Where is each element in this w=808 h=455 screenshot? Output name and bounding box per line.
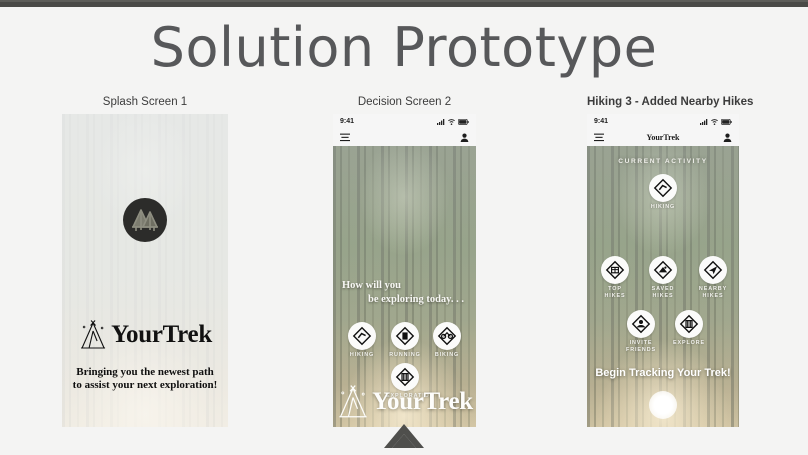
activity-option-running[interactable]: RUNNING — [387, 322, 423, 359]
brand-name-text: YourTrek — [372, 388, 473, 416]
phone-screen-hiking: 9:41 — [587, 114, 739, 427]
cellular-signal-icon — [700, 119, 708, 125]
wifi-icon — [448, 119, 455, 125]
diamond-hiking-icon[interactable] — [649, 174, 677, 202]
option-nearby-hikes-label: NEARBY HIKES — [693, 286, 733, 299]
diamond-running-icon[interactable] — [391, 322, 419, 350]
profile-icon[interactable] — [460, 129, 469, 147]
phone-screen-decision: 9:41 — [333, 114, 476, 427]
hiking-screen-body: CURRENT ACTIVITY HIKING — [587, 146, 739, 427]
activity-option-biking-label: BIKING — [430, 352, 464, 359]
cellular-signal-icon — [437, 119, 445, 125]
home-indicator-button[interactable] — [649, 391, 677, 419]
brand-wordmark: YourTrek — [78, 319, 212, 351]
hamburger-menu-icon[interactable] — [340, 129, 350, 147]
chevron-up-icon[interactable] — [382, 420, 426, 455]
option-explore-label: EXPLORE — [669, 340, 709, 347]
slide-top-bar — [0, 0, 808, 7]
option-invite-friends-label: INVITE FRIENDS — [621, 340, 661, 353]
begin-tracking-cta: Begin Tracking Your Trek! — [587, 367, 739, 379]
battery-icon — [458, 119, 469, 125]
activity-option-hiking-label: HIKING — [345, 352, 379, 359]
column-label-splash: Splash Screen 1 — [62, 96, 228, 108]
forest-circle-logo — [123, 198, 167, 242]
option-top-hikes[interactable]: TOP HIKES — [597, 256, 633, 299]
status-bar: 9:41 — [587, 114, 739, 129]
activity-option-hiking[interactable]: HIKING — [345, 322, 379, 359]
decision-brand-wordmark: YourTrek — [333, 383, 476, 421]
column-label-hiking: Hiking 3 - Added Nearby Hikes — [587, 96, 753, 108]
diamond-hiking-icon[interactable] — [348, 322, 376, 350]
splash-tagline-line-1: Bringing you the newest path — [70, 366, 220, 379]
current-activity-hiking[interactable]: HIKING — [646, 174, 680, 211]
decision-prompt-line-1: How will you — [342, 280, 401, 291]
splash-tagline-line-2: to assist your next exploration! — [70, 379, 220, 392]
option-invite-friends[interactable]: INVITE FRIENDS — [621, 310, 661, 353]
forest-circle-logo-glyph — [128, 203, 162, 237]
diamond-saved-hikes-icon[interactable] — [649, 256, 677, 284]
wifi-icon — [711, 119, 718, 125]
battery-icon — [721, 119, 732, 125]
decision-screen-body: How will you be exploring today. . . HIK… — [333, 146, 476, 427]
decision-prompt-line-2: be exploring today. . . — [342, 293, 470, 307]
diamond-top-hikes-icon[interactable] — [601, 256, 629, 284]
nav-bar — [333, 129, 476, 146]
teepee-icon — [78, 319, 108, 351]
status-bar-icons — [700, 119, 732, 125]
section-header-current-activity: CURRENT ACTIVITY — [587, 158, 739, 165]
splash-tagline: Bringing you the newest path to assist y… — [70, 366, 220, 392]
status-bar: 9:41 — [333, 114, 476, 129]
option-top-hikes-label: TOP HIKES — [597, 286, 633, 299]
prototype-column-splash: Splash Screen 1 — [62, 96, 228, 427]
diamond-navigation-arrow-icon[interactable] — [699, 256, 727, 284]
slide-top-bar-highlight — [0, 0, 808, 2]
diamond-biking-icon[interactable] — [433, 322, 461, 350]
activity-option-running-label: RUNNING — [387, 352, 423, 359]
activity-option-biking[interactable]: BIKING — [430, 322, 464, 359]
nav-bar: YourTrek — [587, 129, 739, 146]
decision-prompt: How will you be exploring today. . . — [342, 279, 470, 307]
diamond-explore-icon[interactable] — [675, 310, 703, 338]
status-bar-time: 9:41 — [594, 118, 608, 125]
teepee-icon — [336, 383, 370, 421]
option-saved-hikes-label: SAVED HIKES — [645, 286, 681, 299]
brand-name-text: YourTrek — [111, 321, 212, 349]
status-bar-time: 9:41 — [340, 118, 354, 125]
status-bar-icons — [437, 119, 469, 125]
nav-bar-title: YourTrek — [587, 133, 739, 142]
option-saved-hikes[interactable]: SAVED HIKES — [645, 256, 681, 299]
prototype-column-hiking: Hiking 3 - Added Nearby Hikes 9:41 — [587, 96, 753, 427]
prototype-column-decision: Decision Screen 2 9:41 — [333, 96, 476, 427]
phone-screen-splash: YourTrek Bringing you the newest path to… — [62, 114, 228, 427]
option-explore[interactable]: EXPLORE — [669, 310, 709, 347]
option-nearby-hikes[interactable]: NEARBY HIKES — [693, 256, 733, 299]
page-title: Solution Prototype — [0, 16, 808, 79]
column-label-decision: Decision Screen 2 — [333, 96, 476, 108]
diamond-invite-friends-icon[interactable] — [627, 310, 655, 338]
current-activity-label: HIKING — [646, 204, 680, 211]
